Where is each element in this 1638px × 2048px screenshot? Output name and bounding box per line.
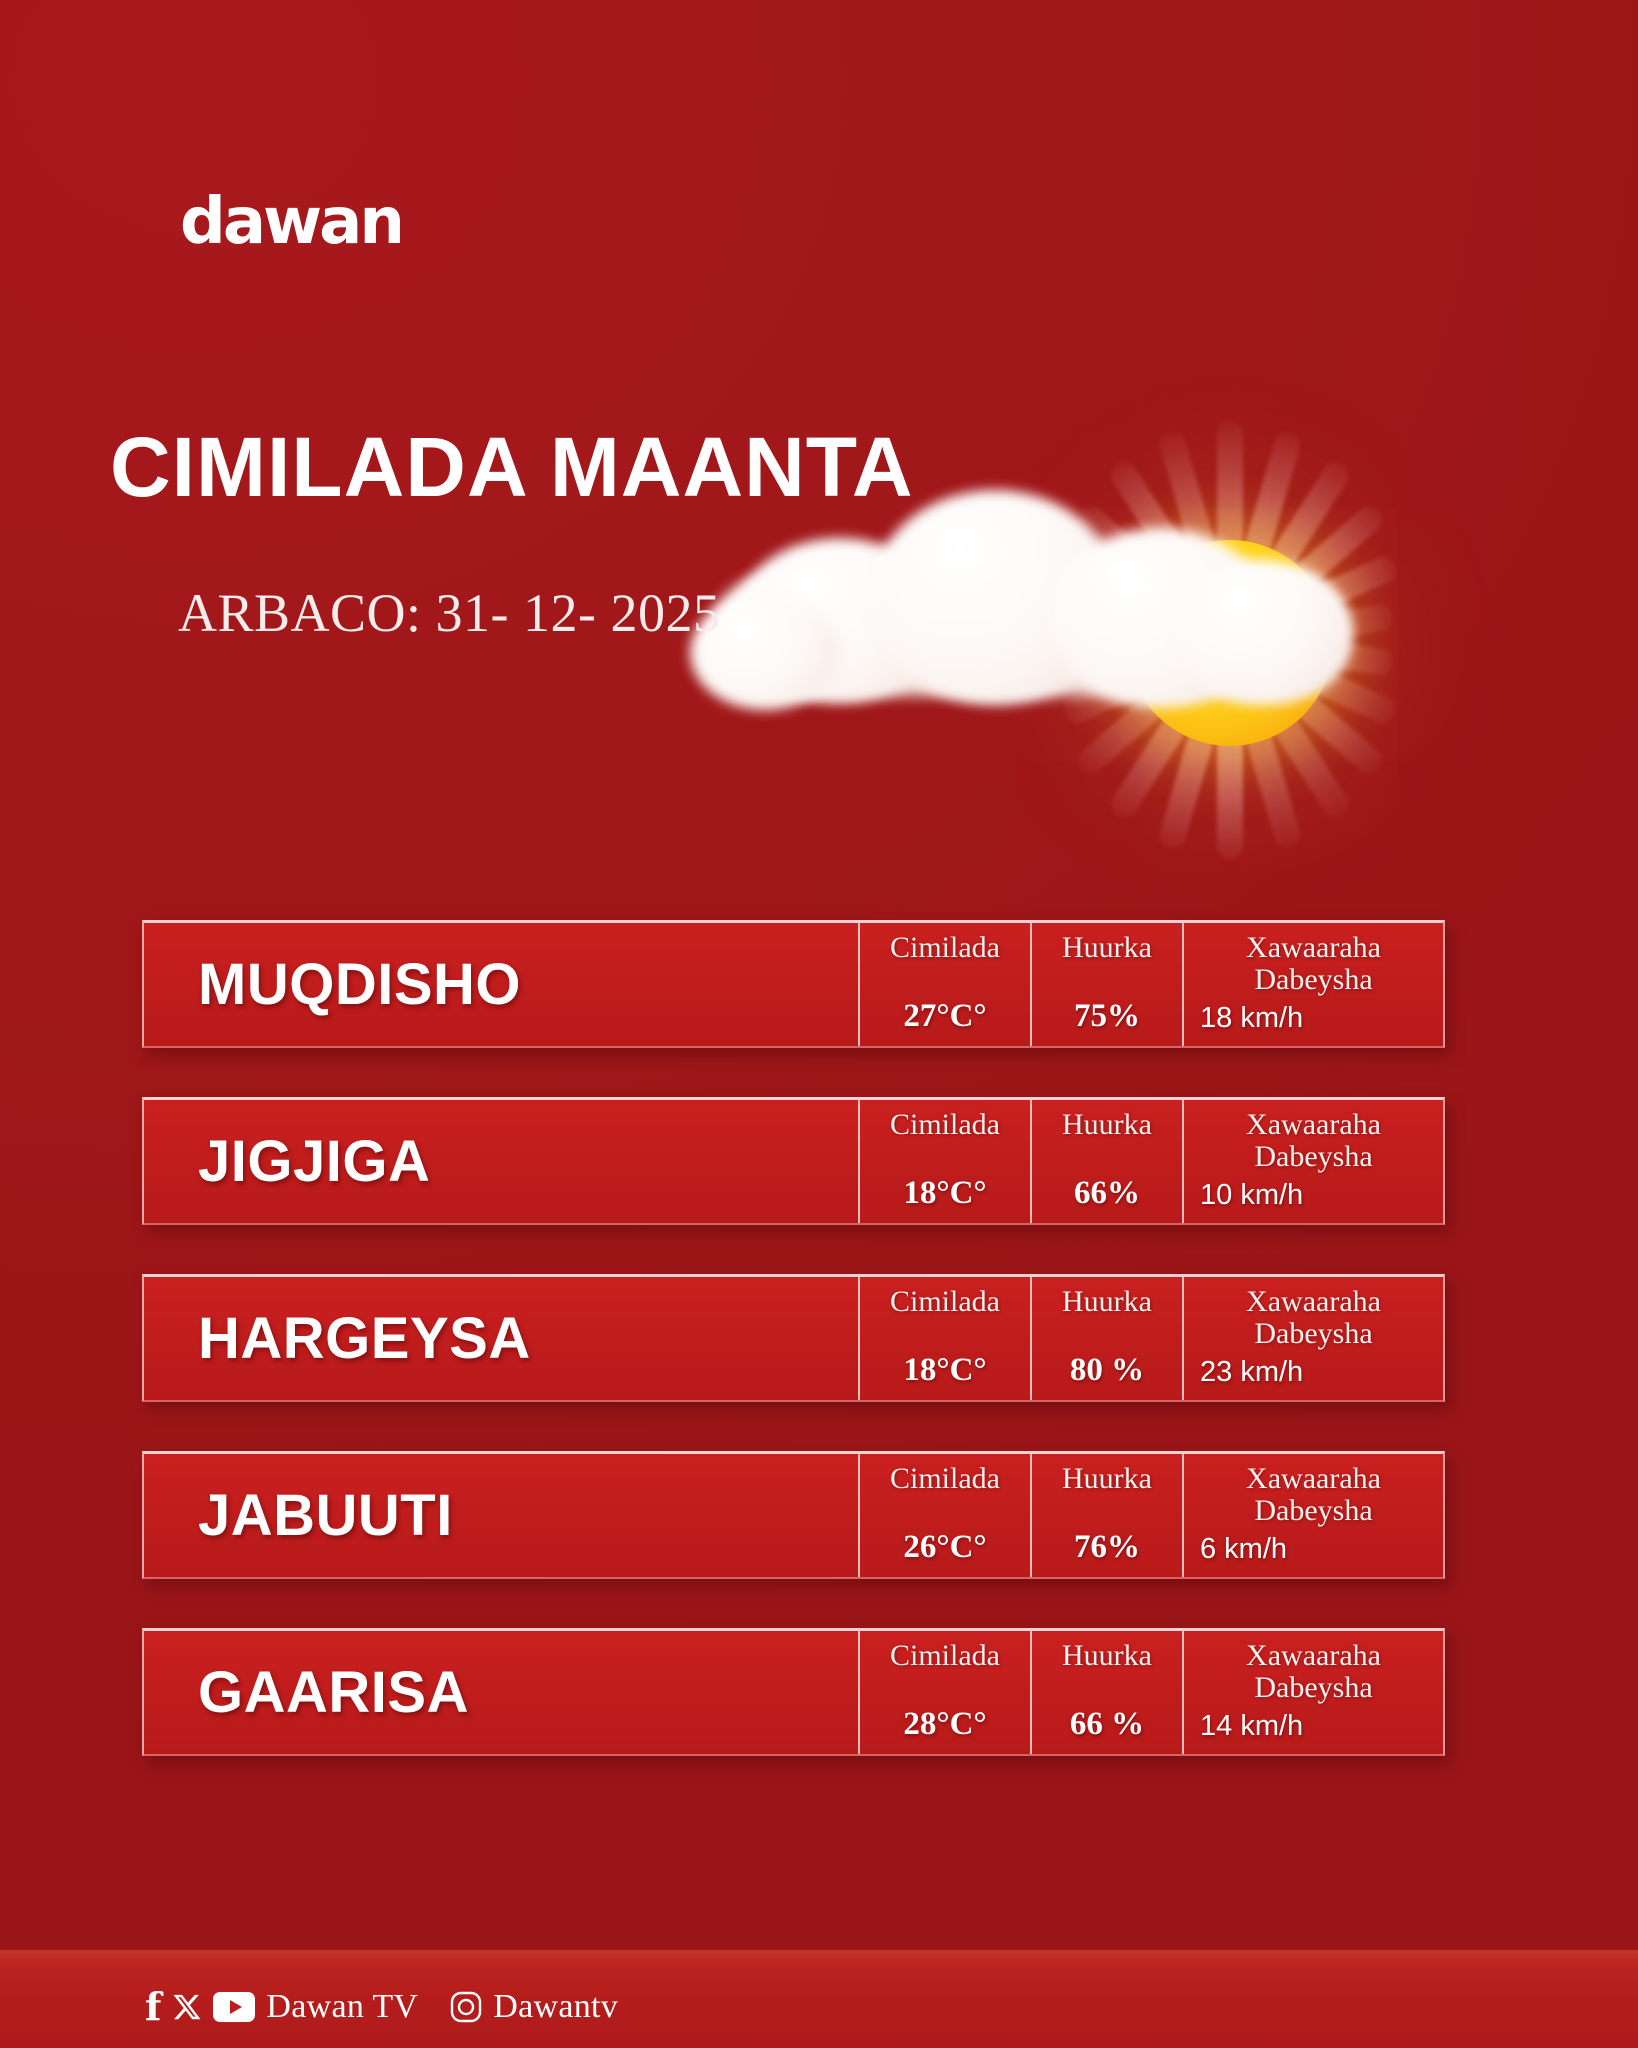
temperature-value: 18°C°: [868, 1175, 1022, 1212]
temperature-cell: Cimilada 18°C°: [858, 1100, 1030, 1223]
temperature-value: 26°C°: [868, 1529, 1022, 1566]
humidity-label: Huurka: [1040, 1109, 1174, 1141]
wind-label: Xawaaraha Dabeysha: [1192, 1286, 1435, 1350]
humidity-cell: Huurka 80 %: [1030, 1277, 1182, 1400]
table-row[interactable]: MUQDISHO Cimilada 27°C° Huurka 75% Xawaa…: [142, 920, 1445, 1048]
temperature-value: 18°C°: [868, 1352, 1022, 1389]
humidity-value: 76%: [1040, 1529, 1174, 1566]
wind-label-line1: Xawaaraha: [1246, 1462, 1381, 1495]
wind-label-line2: Dabeysha: [1254, 1671, 1372, 1704]
table-row[interactable]: JABUUTI Cimilada 26°C° Huurka 76% Xawaar…: [142, 1451, 1445, 1579]
wind-cell: Xawaaraha Dabeysha 6 km/h: [1182, 1454, 1443, 1577]
wind-value: 23 km/h: [1192, 1356, 1435, 1389]
sun-rays-icon: [1020, 215, 1440, 635]
instagram-icon[interactable]: [450, 1991, 482, 2023]
page-title: CIMILADA MAANTA: [110, 425, 914, 509]
humidity-value: 66%: [1040, 1175, 1174, 1212]
table-row[interactable]: GAARISA Cimilada 28°C° Huurka 66 % Xawaa…: [142, 1628, 1445, 1756]
facebook-icon[interactable]: f: [145, 1988, 161, 2026]
handle-main[interactable]: Dawan TV: [266, 1988, 418, 2026]
wind-label-line2: Dabeysha: [1254, 963, 1372, 996]
humidity-value: 66 %: [1040, 1706, 1174, 1743]
wind-label-line1: Xawaaraha: [1246, 1108, 1381, 1141]
temperature-label: Cimilada: [868, 1109, 1022, 1141]
handle-instagram[interactable]: Dawantv: [493, 1988, 618, 2026]
weather-artwork: [855, 225, 1455, 705]
temperature-label: Cimilada: [868, 932, 1022, 964]
wind-cell: Xawaaraha Dabeysha 10 km/h: [1182, 1100, 1443, 1223]
table-row[interactable]: HARGEYSA Cimilada 18°C° Huurka 80 % Xawa…: [142, 1274, 1445, 1402]
humidity-label: Huurka: [1040, 1640, 1174, 1672]
humidity-label: Huurka: [1040, 1286, 1174, 1318]
metrics-group: Cimilada 28°C° Huurka 66 % Xawaaraha Dab…: [858, 1631, 1443, 1754]
temperature-cell: Cimilada 18°C°: [858, 1277, 1030, 1400]
humidity-cell: Huurka 66 %: [1030, 1631, 1182, 1754]
city-name: MUQDISHO: [144, 923, 858, 1046]
wind-label-line2: Dabeysha: [1254, 1494, 1372, 1527]
wind-cell: Xawaaraha Dabeysha 23 km/h: [1182, 1277, 1443, 1400]
wind-value: 14 km/h: [1192, 1710, 1435, 1743]
weather-table: MUQDISHO Cimilada 27°C° Huurka 75% Xawaa…: [142, 920, 1445, 1756]
city-name: GAARISA: [144, 1631, 858, 1754]
humidity-value: 75%: [1040, 998, 1174, 1035]
wind-cell: Xawaaraha Dabeysha 18 km/h: [1182, 923, 1443, 1046]
humidity-label: Huurka: [1040, 932, 1174, 964]
wind-value: 6 km/h: [1192, 1533, 1435, 1566]
wind-label-line2: Dabeysha: [1254, 1317, 1372, 1350]
metrics-group: Cimilada 18°C° Huurka 80 % Xawaaraha Dab…: [858, 1277, 1443, 1400]
wind-value: 18 km/h: [1192, 1002, 1435, 1035]
temperature-cell: Cimilada 27°C°: [858, 923, 1030, 1046]
humidity-label: Huurka: [1040, 1463, 1174, 1495]
wind-label-line1: Xawaaraha: [1246, 931, 1381, 964]
humidity-value: 80 %: [1040, 1352, 1174, 1389]
wind-value: 10 km/h: [1192, 1179, 1435, 1212]
table-row[interactable]: JIGJIGA Cimilada 18°C° Huurka 66% Xawaar…: [142, 1097, 1445, 1225]
date-label: ARBACO: 31- 12- 2025: [178, 582, 721, 644]
wind-label: Xawaaraha Dabeysha: [1192, 1109, 1435, 1173]
temperature-value: 27°C°: [868, 998, 1022, 1035]
wind-label: Xawaaraha Dabeysha: [1192, 1463, 1435, 1527]
temperature-label: Cimilada: [868, 1640, 1022, 1672]
humidity-cell: Huurka 66%: [1030, 1100, 1182, 1223]
wind-label-line1: Xawaaraha: [1246, 1285, 1381, 1318]
temperature-label: Cimilada: [868, 1286, 1022, 1318]
poster-canvas: dawan CIMILADA MAANTA ARBACO: 31- 12- 20…: [0, 0, 1638, 2048]
wind-label-line2: Dabeysha: [1254, 1140, 1372, 1173]
social-links: f Dawan TV Dawantv: [145, 1988, 618, 2026]
metrics-group: Cimilada 18°C° Huurka 66% Xawaaraha Dabe…: [858, 1100, 1443, 1223]
metrics-group: Cimilada 26°C° Huurka 76% Xawaaraha Dabe…: [858, 1454, 1443, 1577]
humidity-cell: Huurka 75%: [1030, 923, 1182, 1046]
metrics-group: Cimilada 27°C° Huurka 75% Xawaaraha Dabe…: [858, 923, 1443, 1046]
humidity-cell: Huurka 76%: [1030, 1454, 1182, 1577]
youtube-icon[interactable]: [213, 1992, 255, 2022]
temperature-value: 28°C°: [868, 1706, 1022, 1743]
wind-label-line1: Xawaaraha: [1246, 1639, 1381, 1672]
x-twitter-icon[interactable]: [172, 1992, 202, 2022]
city-name: JABUUTI: [144, 1454, 858, 1577]
temperature-cell: Cimilada 26°C°: [858, 1454, 1030, 1577]
sun-icon: [1127, 540, 1333, 746]
wind-cell: Xawaaraha Dabeysha 14 km/h: [1182, 1631, 1443, 1754]
city-name: HARGEYSA: [144, 1277, 858, 1400]
wind-label: Xawaaraha Dabeysha: [1192, 932, 1435, 996]
brand-logo[interactable]: dawan: [180, 190, 402, 254]
temperature-cell: Cimilada 28°C°: [858, 1631, 1030, 1754]
city-name: JIGJIGA: [144, 1100, 858, 1223]
temperature-label: Cimilada: [868, 1463, 1022, 1495]
wind-label: Xawaaraha Dabeysha: [1192, 1640, 1435, 1704]
